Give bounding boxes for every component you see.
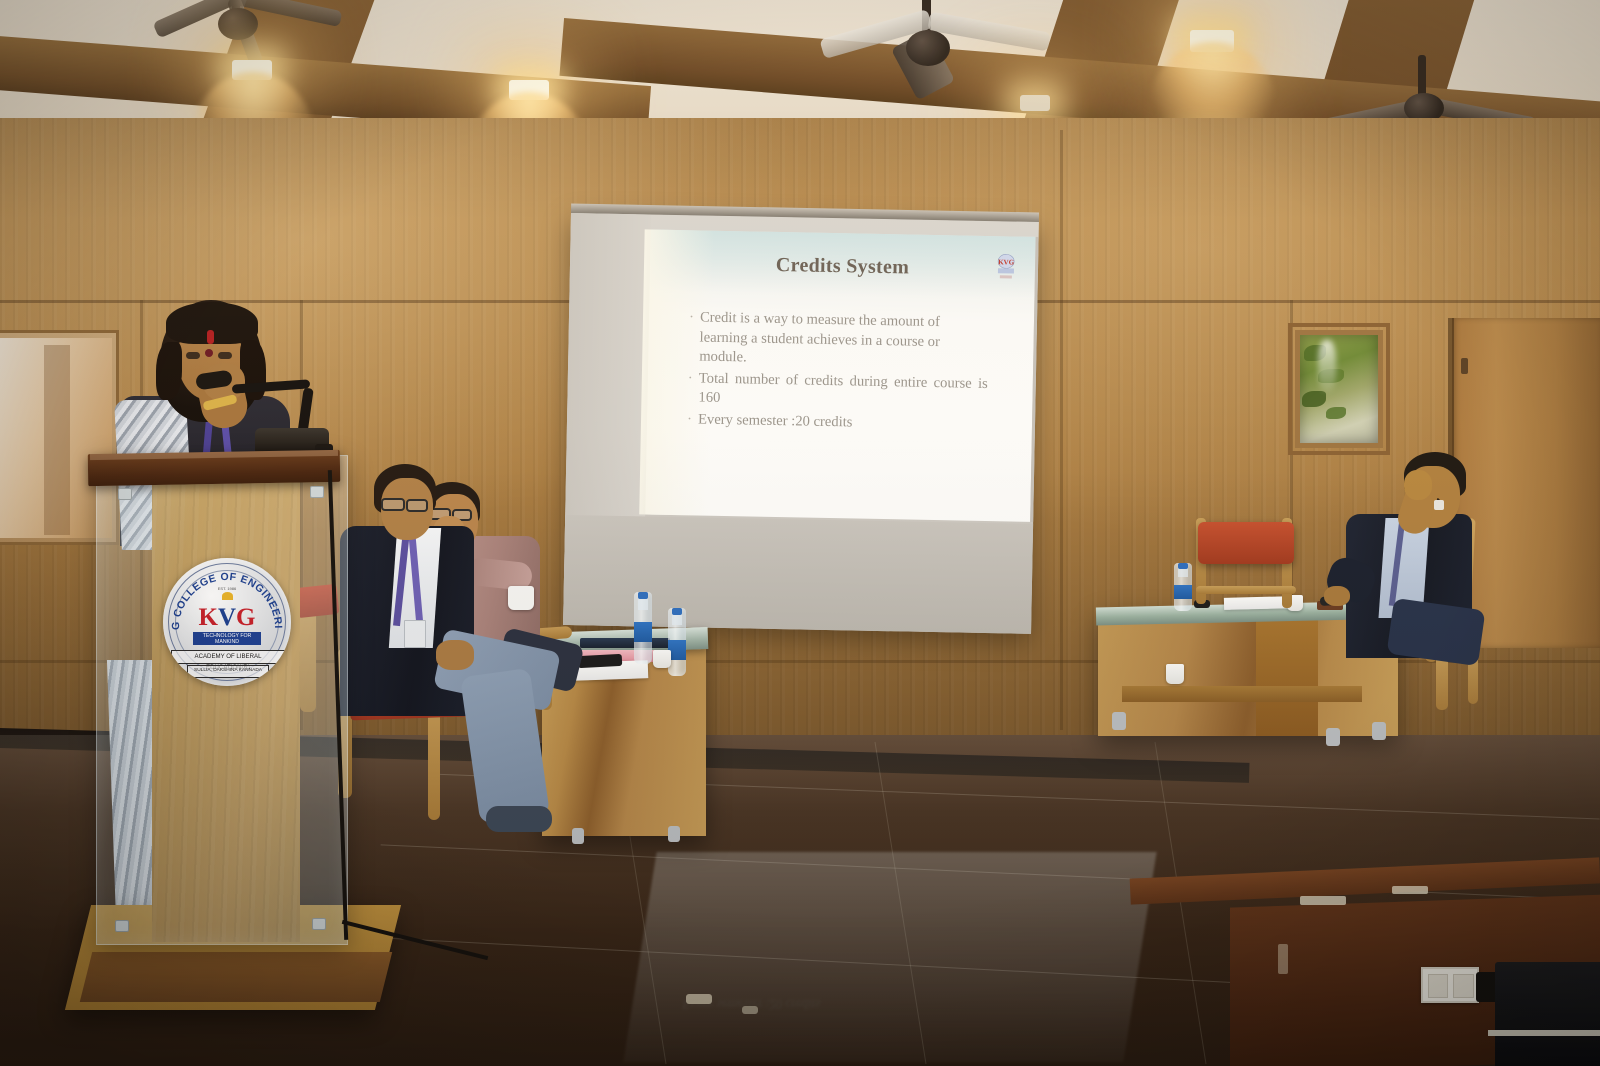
auditorium-photo: Credits System KVG · Credit is a way to … [0, 0, 1600, 1066]
slide-bullet-list: · Credit is a way to measure the amount … [687, 308, 989, 437]
kvg-college-seal: KVG COLLEGE OF ENGINEERING EST. 1986 KVG… [163, 558, 291, 686]
table-leg [572, 828, 584, 844]
chair-leg [428, 700, 440, 820]
ceiling-light [1020, 95, 1050, 111]
floor-debris [686, 994, 712, 1004]
power-socket-panel [1421, 967, 1479, 1003]
podium-platform-edge [80, 952, 392, 1002]
seal-letter-g: G [236, 604, 255, 631]
slide-area: Credits System KVG · Credit is a way to … [645, 230, 1035, 522]
seal-place-line: SULLIA, DAKSHINA KANNADA [187, 665, 269, 678]
bullet-marker: · [687, 369, 699, 408]
wristwatch [1434, 500, 1444, 510]
table-shelf [1122, 686, 1362, 702]
cup [653, 650, 671, 668]
paint-chip [1278, 944, 1288, 974]
kvg-slide-logo-icon: KVG [993, 252, 1020, 282]
file-stack [580, 638, 670, 648]
paint-chip [1300, 896, 1346, 905]
chair-rail [1196, 586, 1296, 594]
hand [1324, 586, 1350, 606]
eye [218, 352, 232, 359]
paint-chip [1392, 886, 1428, 894]
wall-groove [1060, 130, 1063, 730]
doorway-shadow [44, 345, 70, 535]
door-hinge [1461, 358, 1468, 374]
bullet-text: Total number of credits during entire co… [698, 369, 988, 414]
floor-strip [1488, 1030, 1600, 1036]
seal-motto: TECHNOLOGY FOR MANKIND [193, 632, 261, 645]
hand-to-face [1404, 470, 1432, 500]
window-glare [1318, 340, 1336, 392]
red-chair-back [1198, 522, 1294, 564]
bullet-text: Every semester :20 credits [698, 410, 987, 435]
bullet-text: Credit is a way to measure the amount of… [699, 308, 989, 372]
bullet-marker: · [687, 410, 698, 430]
hand-on-knee [436, 640, 474, 670]
projection-screen: Credits System KVG · Credit is a way to … [563, 213, 1039, 634]
podium-glass-clip [312, 918, 326, 930]
table-leg [1112, 712, 1126, 730]
eye [186, 352, 200, 359]
seal-monogram: KVG [163, 604, 291, 632]
seal-letter-k: K [199, 604, 218, 631]
podium-glass-clip [310, 486, 324, 498]
seal-academy-line: ACADEMY OF LIBERAL EDUCATION(R) [171, 650, 285, 664]
podium-glass-front [96, 455, 348, 945]
right-door [1452, 318, 1600, 648]
sandal [486, 806, 552, 832]
podium-glass-clip [118, 488, 132, 500]
bindi [205, 349, 213, 357]
cup-on-shelf [1166, 664, 1184, 684]
podium-glass-clip [115, 920, 129, 932]
eyeglasses [381, 498, 405, 511]
slide-bullet: · Credit is a way to measure the amount … [688, 308, 989, 372]
eyeglasses [406, 499, 428, 512]
sindoor [207, 330, 214, 344]
table-leg [1326, 728, 1340, 746]
window-glass [1295, 330, 1383, 448]
table-panel [1256, 620, 1318, 736]
table-leg [1372, 722, 1386, 740]
id-badge [404, 620, 426, 648]
monitor-edge [1495, 962, 1600, 1066]
seal-letter-v: V [218, 604, 236, 631]
table-leg [668, 826, 680, 842]
screen-reflection-on-floor: Every semester :20 credits [623, 852, 1156, 1062]
water-bottle [1174, 563, 1192, 611]
floor-debris [742, 1006, 758, 1014]
seal-established: EST. 1986 [209, 586, 245, 591]
svg-text:KVG: KVG [998, 258, 1015, 266]
water-bottle [668, 608, 686, 676]
water-bottle [634, 592, 652, 664]
remote-control [578, 654, 623, 668]
slide-bullet: · Total number of credits during entire … [687, 369, 988, 414]
teacup [508, 586, 534, 610]
seal-sun-icon [222, 592, 233, 600]
slide-bullet: · Every semester :20 credits [687, 410, 987, 435]
